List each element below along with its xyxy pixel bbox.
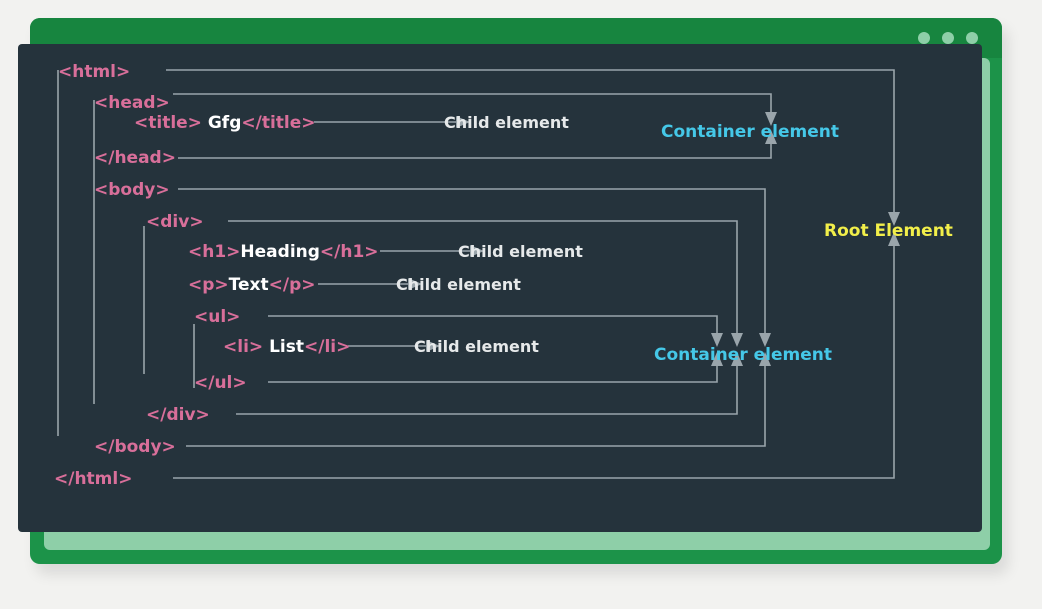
code-token-tag: <ul> [194,307,240,327]
code-line-h1: <h1>Heading</h1> [188,244,379,261]
code-line-ul-open: <ul> [194,309,240,326]
label-child-li: Child element [414,339,539,355]
label-container-head: Container element [661,124,839,141]
dom-tree-canvas: <html> <head> <title> Gfg</title> </head… [18,44,982,532]
code-line-body-close: </body> [94,439,176,456]
code-token-tag: </ul> [194,373,247,393]
code-line-div-open: <div> [146,214,204,231]
code-line-head-close: </head> [94,150,176,167]
code-token-txt: Gfg [202,113,241,133]
code-token-tag: </head> [94,148,176,168]
code-token-txt: List [263,337,304,357]
code-token-tag: </div> [146,405,210,425]
code-token-tag: </title> [241,113,315,133]
label-root: Root Element [824,223,953,240]
label-child-p: Child element [396,277,521,293]
code-token-tag: <head> [94,93,170,113]
window-dot-3[interactable] [966,32,978,44]
code-token-tag: </li> [304,337,350,357]
window-controls [918,32,978,44]
code-line-p: <p>Text</p> [188,277,316,294]
code-line-div-close: </div> [146,407,210,424]
code-line-html-close: </html> [54,471,132,488]
code-line-body-open: <body> [94,182,170,199]
code-line-ul-close: </ul> [194,375,247,392]
code-token-tag: <html> [58,62,130,82]
code-token-tag: <li> [223,337,263,357]
code-line-li: <li> List</li> [223,339,350,356]
code-token-txt: Text [229,275,269,295]
code-token-tag: <p> [188,275,229,295]
code-line-head-open: <head> [94,95,170,112]
code-token-tag: <div> [146,212,204,232]
label-child-title: Child element [444,115,569,131]
label-child-h1: Child element [458,244,583,260]
window-dot-1[interactable] [918,32,930,44]
code-line-html-open: <html> [58,64,130,81]
code-line-title: <title> Gfg</title> [134,115,316,132]
diagram-root: <html> <head> <title> Gfg</title> </head… [0,0,1042,609]
code-token-tag: </body> [94,437,176,457]
code-token-tag: </p> [269,275,316,295]
code-token-tag: </html> [54,469,132,489]
code-token-txt: Heading [240,242,320,262]
code-token-tag: <body> [94,180,170,200]
code-token-tag: <title> [134,113,202,133]
code-token-tag: <h1> [188,242,240,262]
label-container-body: Container element [654,347,832,364]
window-dot-2[interactable] [942,32,954,44]
code-token-tag: </h1> [320,242,379,262]
